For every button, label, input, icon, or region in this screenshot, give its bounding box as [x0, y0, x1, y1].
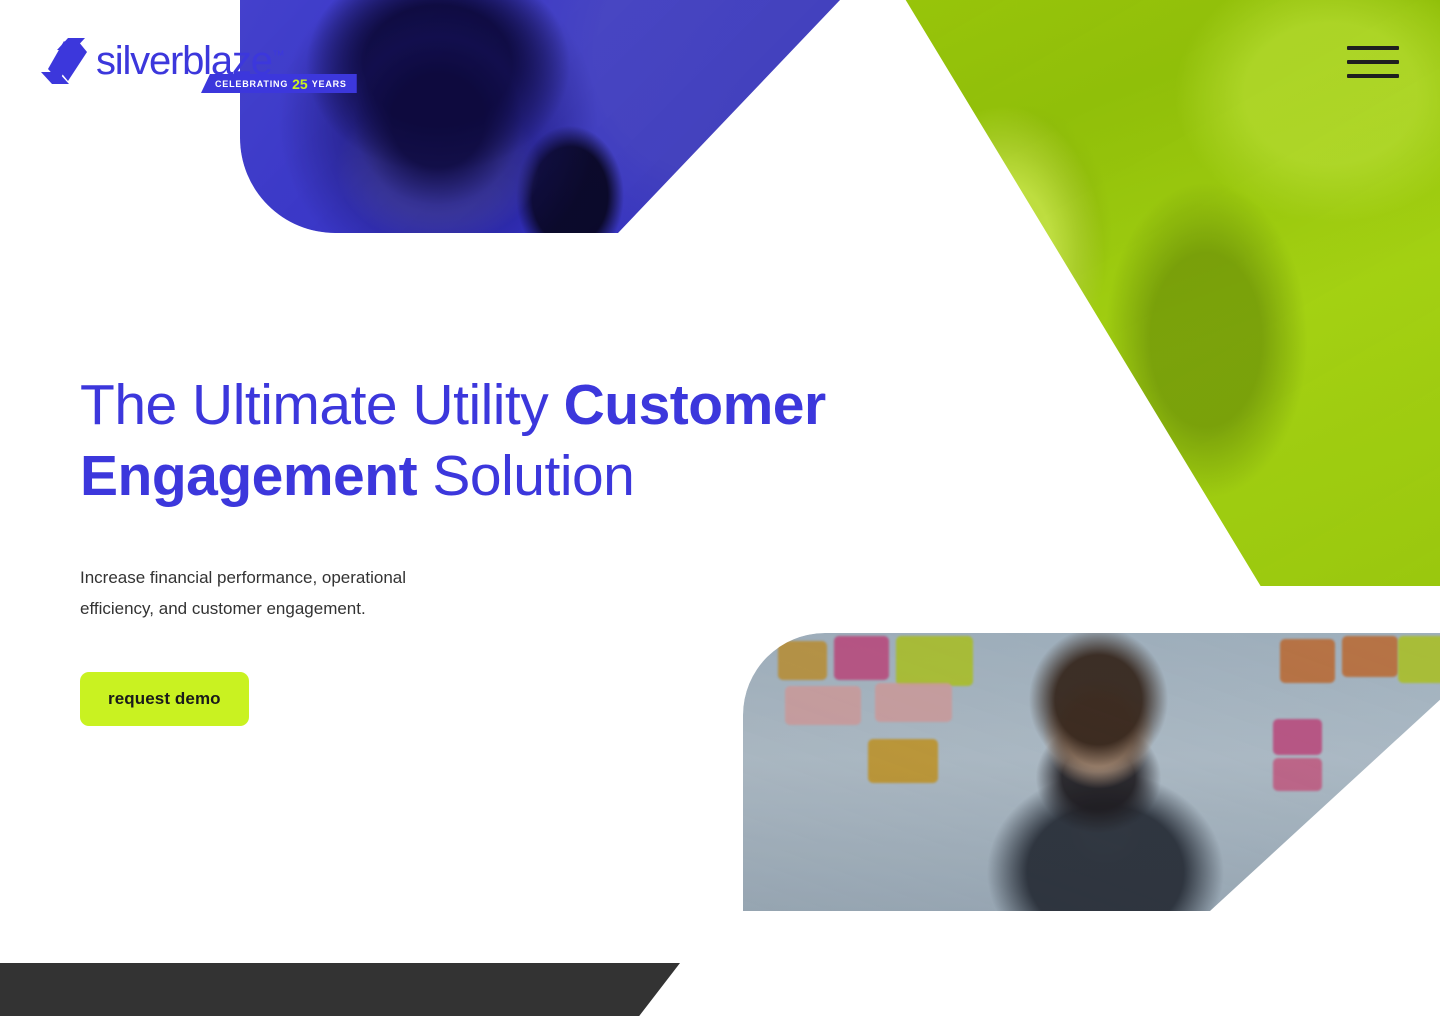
hero-subtitle: Increase financial performance, operatio… [80, 563, 430, 624]
hero-page: silverblaze™ CELEBRATING 25 YEARS The Ul… [0, 0, 1440, 1016]
site-header: silverblaze™ CELEBRATING 25 YEARS [0, 0, 1440, 120]
badge-number: 25 [292, 76, 308, 92]
page-title: The Ultimate Utility Customer Engagement… [80, 370, 900, 511]
hamburger-menu-icon[interactable] [1347, 42, 1399, 82]
band-left-section [0, 963, 680, 1016]
logo[interactable]: silverblaze™ CELEBRATING 25 YEARS [38, 36, 285, 86]
title-part-1: The Ultimate Utility [80, 373, 564, 437]
hamburger-bar [1347, 60, 1399, 64]
title-part-2: Solution [417, 444, 634, 508]
hamburger-bar [1347, 46, 1399, 50]
badge-prefix: CELEBRATING [215, 79, 288, 89]
anniversary-badge: CELEBRATING 25 YEARS [201, 74, 357, 93]
request-demo-button[interactable]: request demo [80, 672, 249, 726]
logo-text: silverblaze™ CELEBRATING 25 YEARS [96, 36, 285, 81]
hamburger-bar [1347, 74, 1399, 78]
silverblaze-s-mark-icon [38, 36, 88, 86]
badge-suffix: YEARS [312, 79, 347, 89]
trademark-symbol: ™ [272, 48, 285, 63]
bottom-band [0, 963, 1440, 1016]
hero-content: The Ultimate Utility Customer Engagement… [80, 370, 900, 726]
